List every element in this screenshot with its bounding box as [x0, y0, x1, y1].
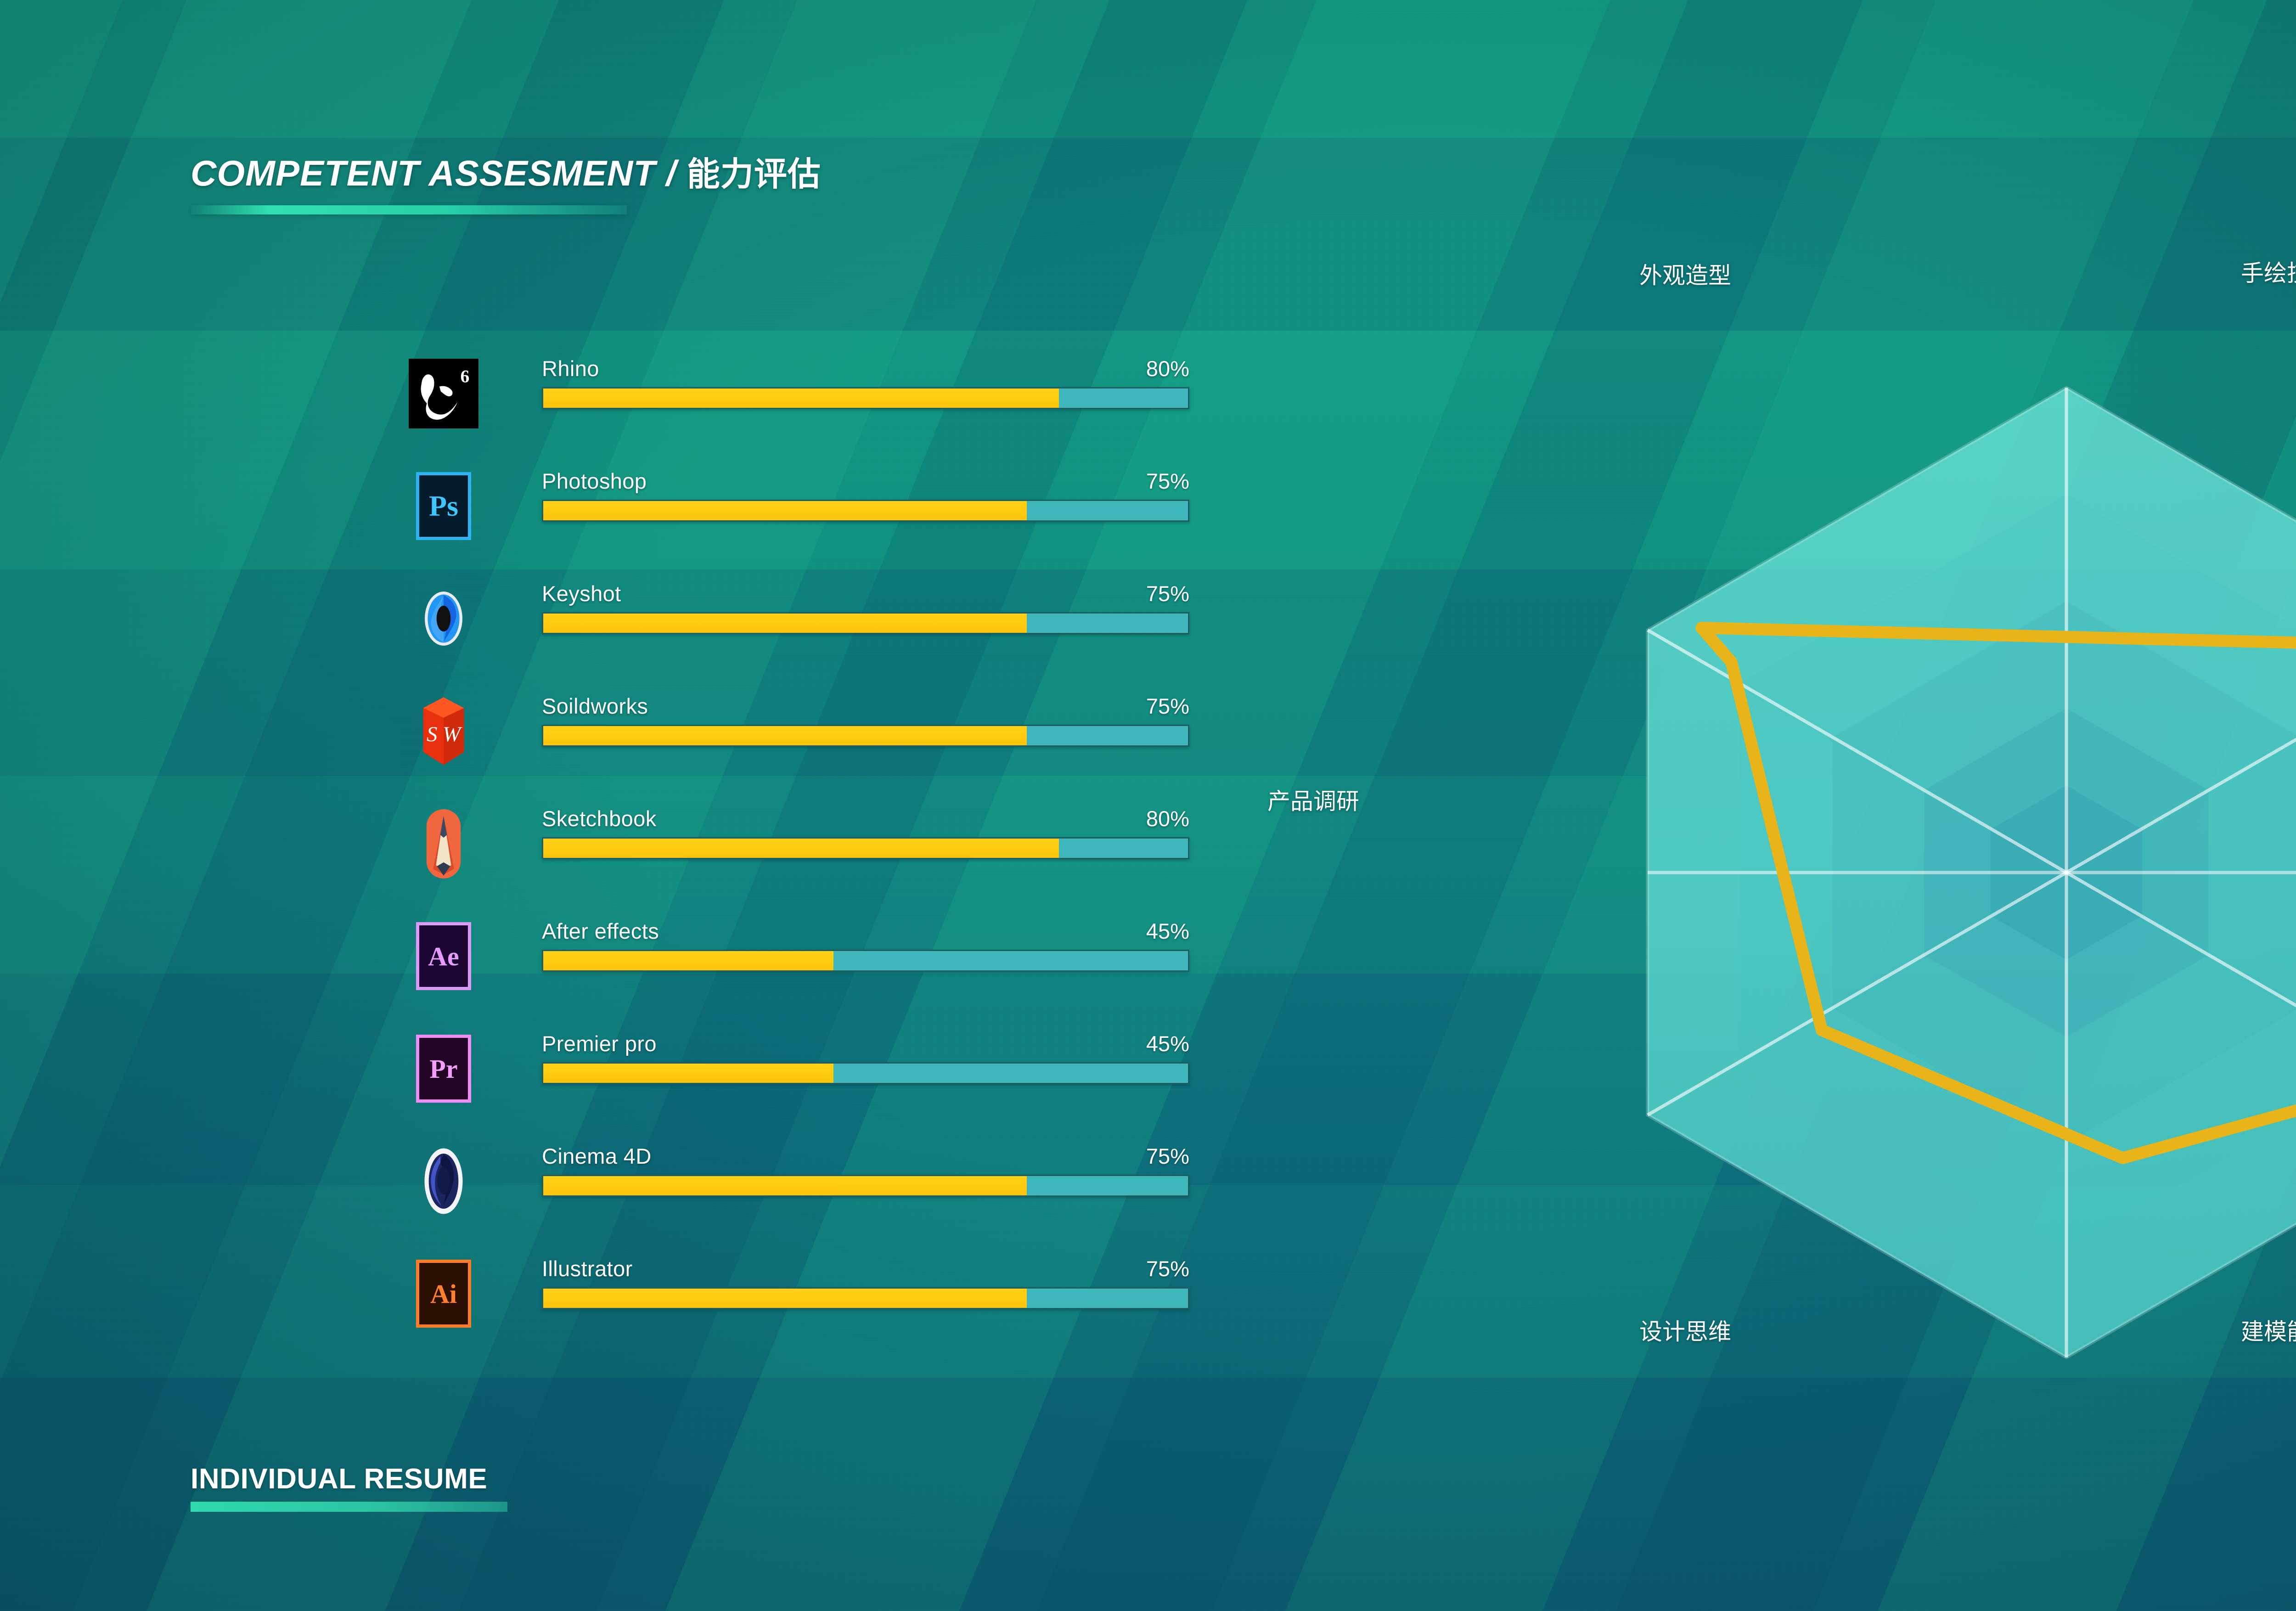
- photoshop-icon-label: Ps: [429, 489, 458, 523]
- progress-bar: [542, 950, 1189, 972]
- progress-bar: [542, 1062, 1189, 1084]
- footer-label: INDIVIDUAL RESUME: [191, 1463, 507, 1495]
- skill-name: Premier pro: [542, 1031, 657, 1056]
- sketchbook-icon: [409, 809, 478, 879]
- progress-bar: [542, 1287, 1189, 1309]
- skill-body: Keyshot 75%: [542, 581, 1189, 634]
- progress-fill: [543, 1064, 833, 1083]
- progress-bar: [542, 500, 1189, 522]
- progress-fill: [543, 501, 1027, 520]
- radar-label-top-right: 手绘技能: [2241, 255, 2296, 288]
- list-item[interactable]: 6 Rhino 80%: [409, 356, 1189, 468]
- list-item[interactable]: Ai Illustrator 75%: [409, 1256, 1189, 1369]
- skill-name: Rhino: [542, 356, 599, 381]
- skill-body: Illustrator 75%: [542, 1256, 1189, 1309]
- list-item[interactable]: Keyshot 75%: [409, 581, 1189, 693]
- illustrator-icon-label: Ai: [430, 1279, 457, 1309]
- skill-name: Soildworks: [542, 693, 648, 719]
- progress-bar: [542, 1175, 1189, 1197]
- aftereffects-icon: Ae: [409, 921, 478, 991]
- skill-percent: 75%: [1146, 1143, 1189, 1169]
- premierepro-icon: Pr: [409, 1034, 478, 1104]
- skill-percent: 80%: [1146, 356, 1189, 381]
- page-title-en: COMPETENT ASSESMENT /: [191, 153, 687, 193]
- skill-body: Rhino 80%: [542, 356, 1189, 409]
- progress-bar: [542, 725, 1189, 747]
- aftereffects-icon-label: Ae: [428, 941, 459, 972]
- skill-percent: 75%: [1146, 1256, 1189, 1281]
- skill-name: Photoshop: [542, 468, 647, 494]
- skill-percent: 80%: [1146, 806, 1189, 831]
- list-item[interactable]: Ae After effects 45%: [409, 918, 1189, 1031]
- footer-underline: [191, 1502, 507, 1512]
- keyshot-icon: [409, 584, 478, 653]
- skill-name: After effects: [542, 918, 659, 944]
- progress-bar: [542, 612, 1189, 634]
- progress-fill: [543, 389, 1059, 408]
- radar-label-bottom-left: 设计思维: [1639, 1313, 1731, 1346]
- title-underline: [191, 205, 627, 214]
- list-item[interactable]: Pr Premier pro 45%: [409, 1031, 1189, 1143]
- skill-body: Photoshop 75%: [542, 468, 1189, 522]
- skill-percent: 75%: [1146, 693, 1189, 719]
- radar-label-bottom-right: 建模能力: [2241, 1313, 2296, 1346]
- progress-bar: [542, 837, 1189, 859]
- list-item[interactable]: S W Soildworks 75%: [409, 693, 1189, 806]
- page-header: COMPETENT ASSESMENT / 能力评估: [191, 147, 821, 214]
- photoshop-icon: Ps: [409, 471, 478, 541]
- cinema4d-icon: [409, 1146, 478, 1216]
- radar-chart: 外观造型 手绘技能 摄影 建模能力 设计思维 产品调研: [1515, 321, 2296, 1424]
- rhino-icon: 6: [409, 359, 478, 428]
- progress-fill: [543, 951, 833, 970]
- list-item[interactable]: Sketchbook 80%: [409, 806, 1189, 918]
- svg-text:6: 6: [460, 366, 469, 387]
- slide-canvas: COMPETENT ASSESMENT / 能力评估 6 R: [0, 0, 2296, 1611]
- skill-name: Illustrator: [542, 1256, 633, 1281]
- progress-fill: [543, 1289, 1027, 1308]
- solidworks-icon: S W: [409, 696, 478, 766]
- premierepro-icon-label: Pr: [429, 1053, 457, 1084]
- progress-fill: [543, 839, 1059, 858]
- illustrator-icon: Ai: [409, 1259, 478, 1329]
- page-title-cn: 能力评估: [687, 156, 821, 193]
- skill-body: After effects 45%: [542, 918, 1189, 972]
- radar-label-left: 产品调研: [1267, 783, 1359, 816]
- list-item[interactable]: Ps Photoshop 75%: [409, 468, 1189, 581]
- skill-name: Sketchbook: [542, 806, 657, 831]
- progress-bar: [542, 387, 1189, 409]
- skill-body: Cinema 4D 75%: [542, 1143, 1189, 1197]
- radar-label-top-left: 外观造型: [1639, 257, 1731, 290]
- skill-body: Premier pro 45%: [542, 1031, 1189, 1084]
- skill-percent: 45%: [1146, 1031, 1189, 1056]
- radar-svg: [1515, 321, 2296, 1424]
- skill-percent: 45%: [1146, 918, 1189, 944]
- skill-percent: 75%: [1146, 468, 1189, 494]
- progress-fill: [543, 614, 1027, 633]
- footer: INDIVIDUAL RESUME: [191, 1463, 507, 1512]
- progress-fill: [543, 726, 1027, 745]
- svg-text:S W: S W: [427, 722, 462, 746]
- page-title: COMPETENT ASSESMENT / 能力评估: [191, 147, 821, 195]
- skill-body: Soildworks 75%: [542, 693, 1189, 747]
- skill-percent: 75%: [1146, 581, 1189, 606]
- skill-name: Cinema 4D: [542, 1143, 652, 1169]
- skill-name: Keyshot: [542, 581, 621, 606]
- progress-fill: [543, 1176, 1027, 1195]
- skill-body: Sketchbook 80%: [542, 806, 1189, 859]
- list-item[interactable]: Cinema 4D 75%: [409, 1143, 1189, 1256]
- skills-list: 6 Rhino 80% Ps: [409, 356, 1189, 1369]
